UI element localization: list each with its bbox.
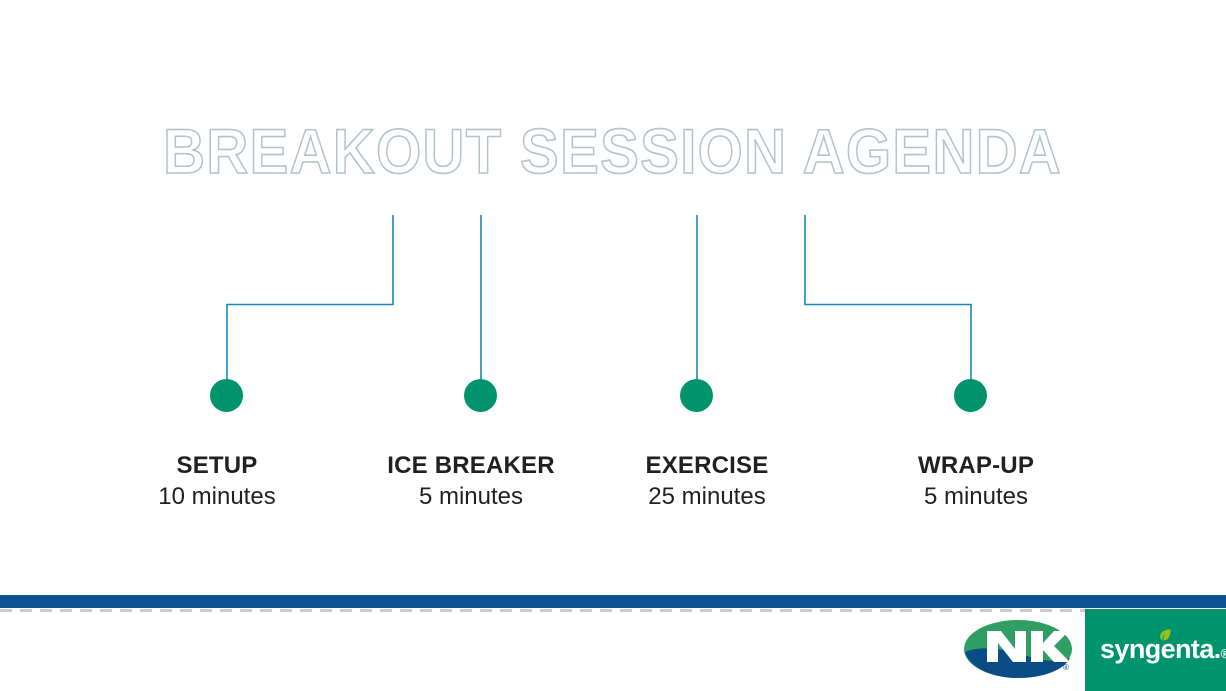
agenda-item-wrap-up[interactable]: WRAP-UP 5 minutes <box>846 451 1106 513</box>
milestone-dot-ice-breaker[interactable] <box>464 379 497 412</box>
agenda-item-ice-breaker-name: ICE BREAKER <box>341 451 601 480</box>
connector-wrap-up <box>805 215 971 392</box>
agenda-item-setup-name: SETUP <box>87 451 347 480</box>
footer-dashed-rule <box>0 609 1226 612</box>
agenda-item-ice-breaker[interactable]: ICE BREAKER 5 minutes <box>341 451 601 513</box>
agenda-item-setup[interactable]: SETUP 10 minutes <box>87 451 347 513</box>
syngenta-logo: syngenta.® <box>1100 634 1226 669</box>
connector-lines <box>0 0 1226 691</box>
syngenta-logo-text: syngenta <box>1100 634 1214 664</box>
nk-registered-mark: ® <box>1063 663 1069 672</box>
agenda-item-wrap-up-name: WRAP-UP <box>846 451 1106 480</box>
agenda-item-ice-breaker-duration: 5 minutes <box>341 480 601 513</box>
syngenta-logo-period: . <box>1214 634 1221 664</box>
agenda-item-exercise-duration: 25 minutes <box>577 480 837 513</box>
agenda-item-wrap-up-duration: 5 minutes <box>846 480 1106 513</box>
syngenta-registered-mark: ® <box>1221 646 1226 661</box>
nk-logo-icon <box>963 618 1075 680</box>
agenda-item-setup-duration: 10 minutes <box>87 480 347 513</box>
footer-blue-bar <box>0 595 1226 608</box>
milestone-dot-exercise[interactable] <box>680 379 713 412</box>
slide-canvas: BREAKOUT SESSION AGENDA SETUP 10 minutes… <box>0 0 1226 691</box>
agenda-item-exercise[interactable]: EXERCISE 25 minutes <box>577 451 837 513</box>
agenda-item-exercise-name: EXERCISE <box>577 451 837 480</box>
connector-setup <box>227 215 393 392</box>
milestone-dot-wrap-up[interactable] <box>954 379 987 412</box>
milestone-dot-setup[interactable] <box>210 379 243 412</box>
